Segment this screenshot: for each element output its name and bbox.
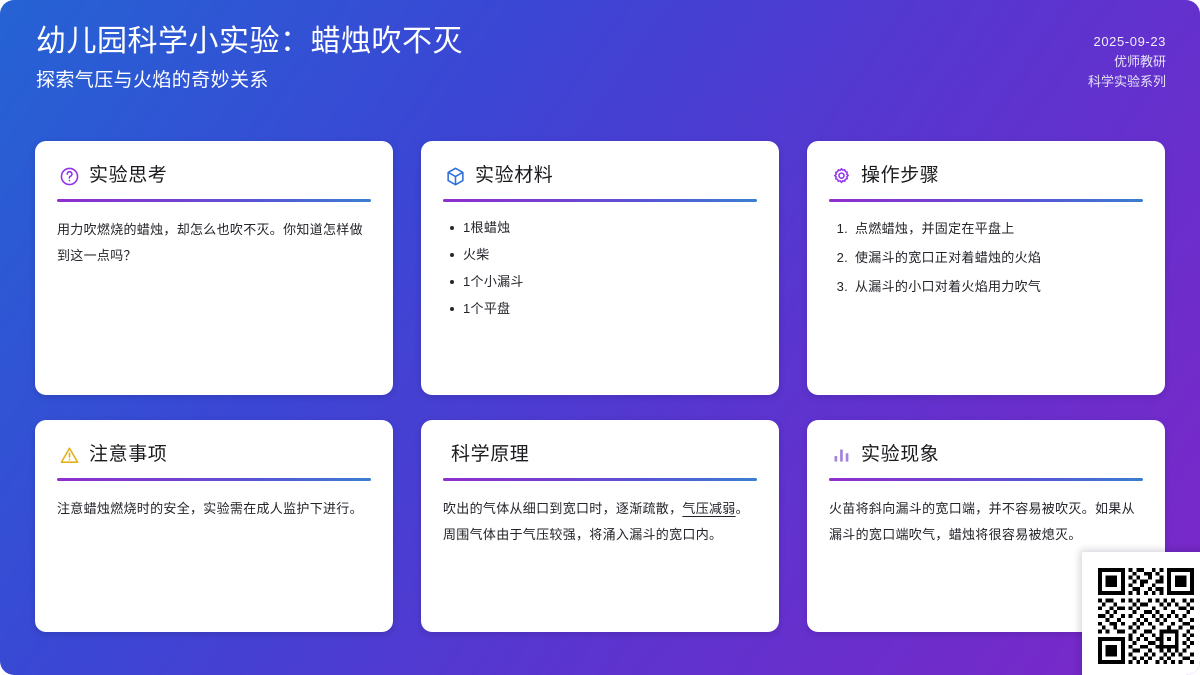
bar-chart-icon: [831, 445, 852, 466]
steps-list: 点燃蜡烛，并固定在平盘上 使漏斗的宽口正对着蜡烛的火焰 从漏斗的小口对着火焰用力…: [829, 214, 1143, 301]
header-meta: 2025-09-23 优师教研 科学实验系列: [1088, 22, 1166, 92]
card-header: 操作步骤: [829, 161, 1143, 191]
header-series: 科学实验系列: [1088, 72, 1166, 92]
card-rule: [443, 478, 757, 481]
card-title: 实验思考: [89, 164, 167, 188]
poster-header: 幼儿园科学小实验：蜡烛吹不灭 探索气压与火焰的奇妙关系 2025-09-23 优…: [0, 0, 1200, 128]
materials-list: 1根蜡烛 火柴 1个小漏斗 1个平盘: [443, 214, 757, 322]
card-header: 实验材料: [443, 161, 757, 191]
principle-text-part1: 吹出的气体从细口到宽口时，逐渐疏散，: [443, 501, 682, 516]
card-header: 科学原理: [443, 440, 757, 470]
card-body: 火苗将斜向漏斗的宽口端，并不容易被吹灭。如果从漏斗的宽口端吹气，蜡烛将很容易被熄…: [829, 496, 1143, 548]
header-org: 优师教研: [1114, 52, 1166, 72]
gear-icon: [831, 166, 852, 187]
poster-root: 幼儿园科学小实验：蜡烛吹不灭 探索气压与火焰的奇妙关系 2025-09-23 优…: [0, 0, 1200, 675]
list-item: 1个小漏斗: [463, 268, 757, 295]
card-body: 注意蜡烛燃烧时的安全，实验需在成人监护下进行。: [57, 496, 371, 522]
list-item: 使漏斗的宽口正对着蜡烛的火焰: [852, 243, 1143, 272]
list-item: 火柴: [463, 241, 757, 268]
header-date: 2025-09-23: [1094, 32, 1167, 52]
cube-icon: [445, 166, 466, 187]
card-header: 实验现象: [829, 440, 1143, 470]
card-body-text: 注意蜡烛燃烧时的安全，实验需在成人监护下进行。: [57, 496, 371, 522]
card-body: 吹出的气体从细口到宽口时，逐渐疏散，气压减弱。周围气体由于气压较强，将涌入漏斗的…: [443, 496, 757, 548]
list-item: 点燃蜡烛，并固定在平盘上: [852, 214, 1143, 243]
card-rule: [57, 478, 371, 481]
card-title: 操作步骤: [861, 164, 939, 188]
page-subtitle: 探索气压与火焰的奇妙关系: [36, 66, 463, 96]
list-item: 1根蜡烛: [463, 214, 757, 241]
list-item: 1个平盘: [463, 295, 757, 322]
card-header: 注意事项: [57, 440, 371, 470]
qr-panel: [1082, 552, 1200, 675]
card-rule: [829, 478, 1143, 481]
header-left: 幼儿园科学小实验：蜡烛吹不灭 探索气压与火焰的奇妙关系: [36, 22, 463, 96]
card-rule: [443, 199, 757, 202]
qr-code[interactable]: [1098, 568, 1194, 664]
warning-triangle-icon: [59, 445, 80, 466]
list-item: 从漏斗的小口对着火焰用力吹气: [852, 272, 1143, 301]
card-body-text: 火苗将斜向漏斗的宽口端，并不容易被吹灭。如果从漏斗的宽口端吹气，蜡烛将很容易被熄…: [829, 496, 1143, 548]
principle-highlight: 气压减弱: [682, 501, 735, 516]
page-title: 幼儿园科学小实验：蜡烛吹不灭: [36, 22, 463, 62]
card-body-text: 用力吹燃烧的蜡烛，却怎么也吹不灭。你知道怎样做到这一点吗？: [57, 217, 371, 269]
card-body-text: 吹出的气体从细口到宽口时，逐渐疏散，气压减弱。周围气体由于气压较强，将涌入漏斗的…: [443, 496, 757, 548]
card-title: 实验现象: [861, 443, 939, 467]
card-header: 实验思考: [57, 161, 371, 191]
card-body: 用力吹燃烧的蜡烛，却怎么也吹不灭。你知道怎样做到这一点吗？: [57, 217, 371, 269]
card-safety-notes: 注意事项 注意蜡烛燃烧时的安全，实验需在成人监护下进行。: [35, 420, 393, 632]
card-title: 注意事项: [89, 443, 167, 467]
card-experiment-question: 实验思考 用力吹燃烧的蜡烛，却怎么也吹不灭。你知道怎样做到这一点吗？: [35, 141, 393, 395]
card-science-principle: 科学原理 吹出的气体从细口到宽口时，逐渐疏散，气压减弱。周围气体由于气压较强，将…: [421, 420, 779, 632]
question-circle-icon: [59, 166, 80, 187]
card-experiment-steps: 操作步骤 点燃蜡烛，并固定在平盘上 使漏斗的宽口正对着蜡烛的火焰 从漏斗的小口对…: [807, 141, 1165, 395]
card-title: 科学原理: [451, 443, 529, 467]
card-experiment-materials: 实验材料 1根蜡烛 火柴 1个小漏斗 1个平盘: [421, 141, 779, 395]
card-rule: [829, 199, 1143, 202]
card-rule: [57, 199, 371, 202]
card-title: 实验材料: [475, 164, 553, 188]
cards-grid: 实验思考 用力吹燃烧的蜡烛，却怎么也吹不灭。你知道怎样做到这一点吗？ 实验材料: [35, 141, 1165, 632]
